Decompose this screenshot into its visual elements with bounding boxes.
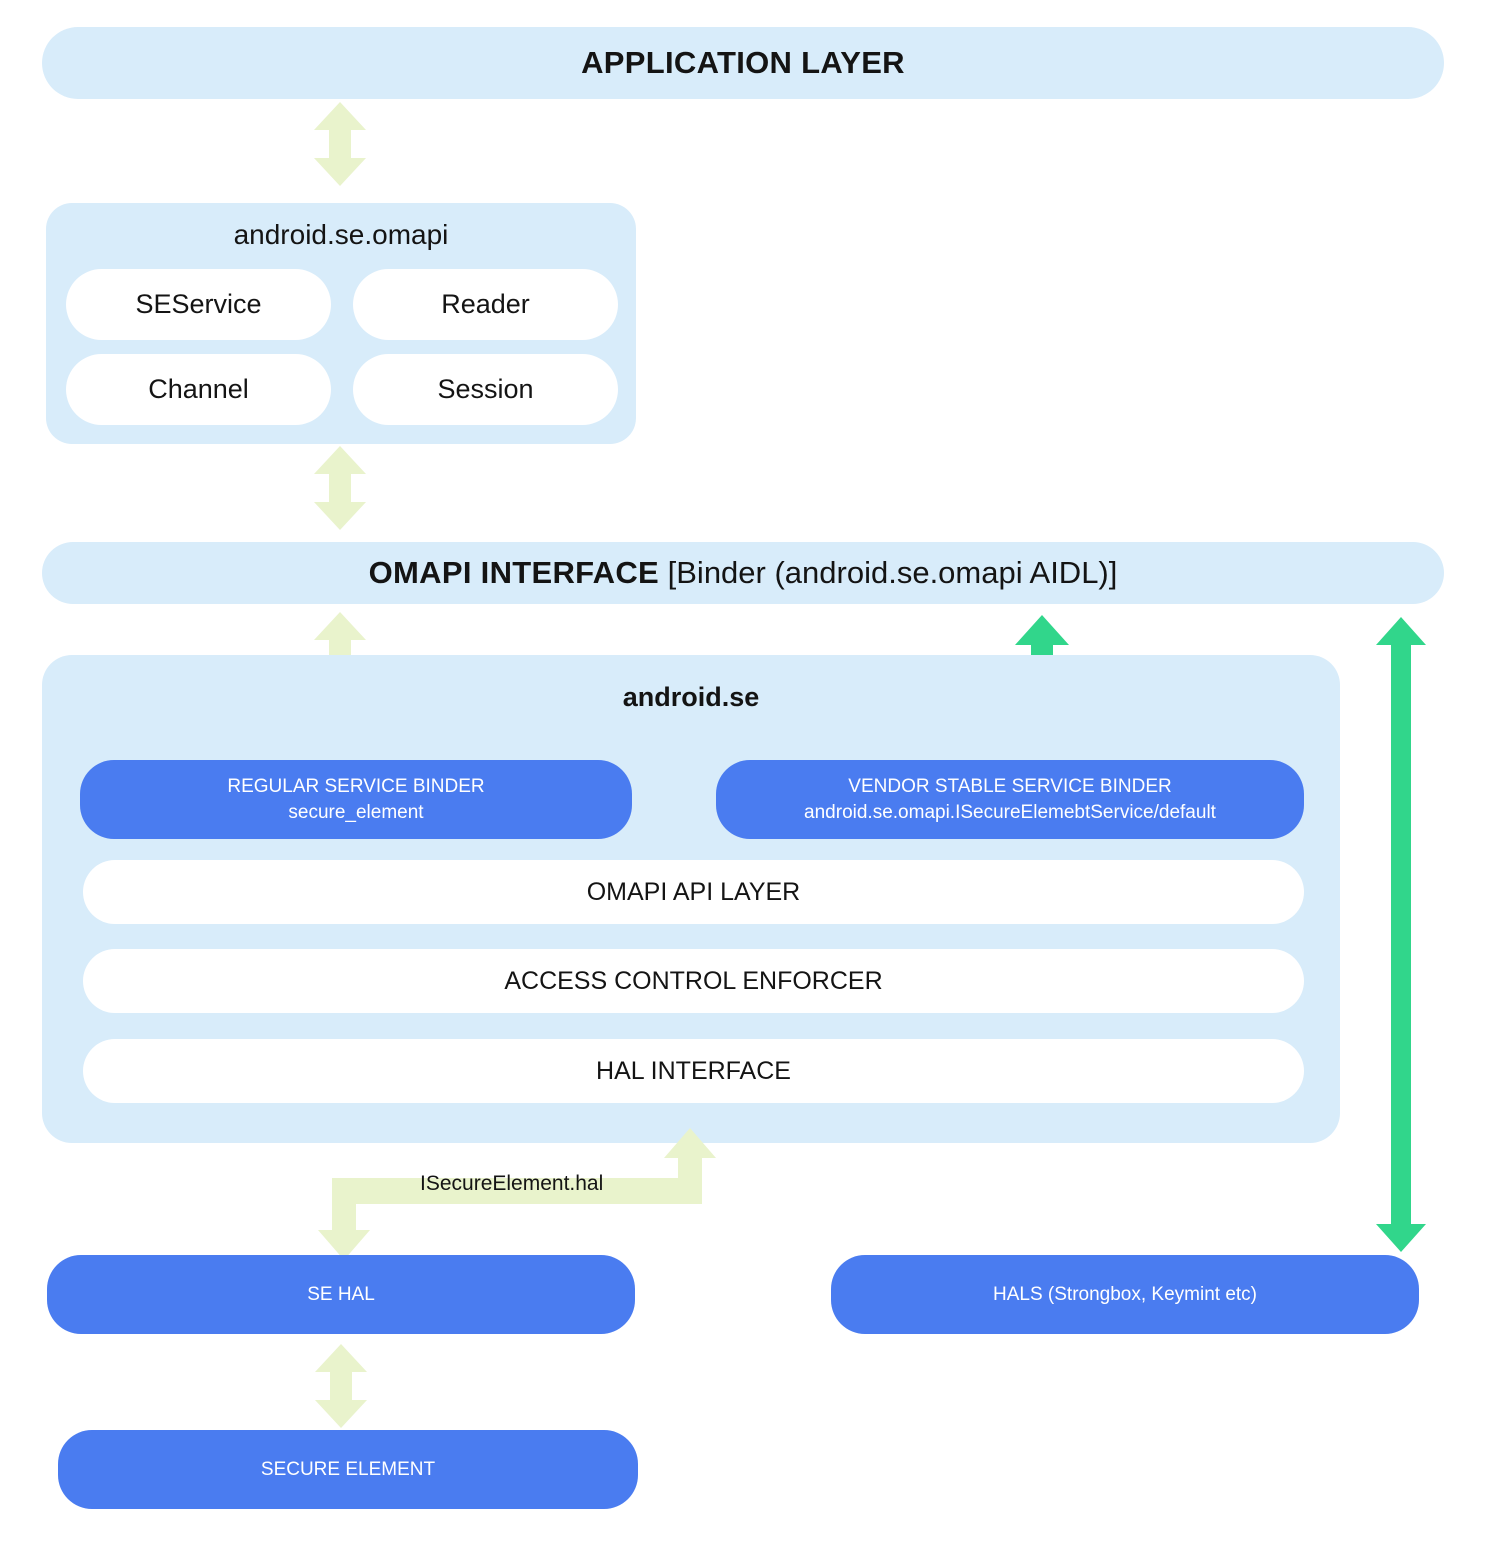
android-se-title: android.se (42, 682, 1340, 713)
secure-element-box[interactable]: SECURE ELEMENT (58, 1430, 638, 1509)
se-hal-to-secure-element-arrow (313, 1344, 369, 1428)
omapi-chip-label: Session (437, 374, 533, 405)
architecture-diagram: APPLICATION LAYER android.se.omapi SESer… (0, 0, 1487, 1542)
omapi-to-interface-arrow (312, 446, 368, 530)
vendor-stable-service-binder-box[interactable]: VENDOR STABLE SERVICE BINDER android.se.… (716, 760, 1304, 839)
binder-title: REGULAR SERVICE BINDER (227, 774, 484, 799)
omapi-chip-reader[interactable]: Reader (353, 269, 618, 340)
row-label: ACCESS CONTROL ENFORCER (504, 967, 882, 996)
omapi-interface-label-bold: OMAPI INTERFACE (369, 555, 659, 590)
isecureelement-hal-label: ISecureElement.hal (420, 1172, 603, 1196)
omapi-interface-label-group: OMAPI INTERFACE [Binder (android.se.omap… (369, 555, 1118, 591)
omapi-interface-label-regular: [Binder (android.se.omapi AIDL)] (659, 555, 1117, 590)
app-to-omapi-arrow (312, 102, 368, 186)
access-control-enforcer-row[interactable]: ACCESS CONTROL ENFORCER (83, 949, 1304, 1013)
omapi-chip-seservice[interactable]: SEService (66, 269, 331, 340)
hal-interface-row[interactable]: HAL INTERFACE (83, 1039, 1304, 1103)
omapi-interface-bar: OMAPI INTERFACE [Binder (android.se.omap… (42, 542, 1444, 604)
row-label: HAL INTERFACE (596, 1057, 791, 1086)
omapi-chip-session[interactable]: Session (353, 354, 618, 425)
hals-label: HALS (Strongbox, Keymint etc) (993, 1282, 1257, 1307)
binder-subtitle: secure_element (288, 800, 423, 825)
omapi-panel-title: android.se.omapi (46, 219, 636, 251)
binder-subtitle: android.se.omapi.ISecureElemebtService/d… (804, 800, 1216, 825)
regular-service-binder-box[interactable]: REGULAR SERVICE BINDER secure_element (80, 760, 632, 839)
hals-box[interactable]: HALS (Strongbox, Keymint etc) (831, 1255, 1419, 1334)
row-label: OMAPI API LAYER (587, 878, 801, 907)
omapi-chip-label: Reader (441, 289, 530, 320)
omapi-api-layer-row[interactable]: OMAPI API LAYER (83, 860, 1304, 924)
omapi-chip-channel[interactable]: Channel (66, 354, 331, 425)
application-layer-bar: APPLICATION LAYER (42, 27, 1444, 99)
vendor-to-hals-arrow (1373, 617, 1429, 1252)
android-se-panel: android.se REGULAR SERVICE BINDER secure… (42, 655, 1340, 1143)
omapi-panel: android.se.omapi SEService Reader Channe… (46, 203, 636, 444)
application-layer-label: APPLICATION LAYER (581, 45, 905, 81)
omapi-chip-label: SEService (135, 289, 261, 320)
se-hal-label: SE HAL (307, 1282, 375, 1307)
secure-element-label: SECURE ELEMENT (261, 1457, 435, 1482)
binder-title: VENDOR STABLE SERVICE BINDER (848, 774, 1171, 799)
se-hal-box[interactable]: SE HAL (47, 1255, 635, 1334)
omapi-chip-label: Channel (148, 374, 249, 405)
